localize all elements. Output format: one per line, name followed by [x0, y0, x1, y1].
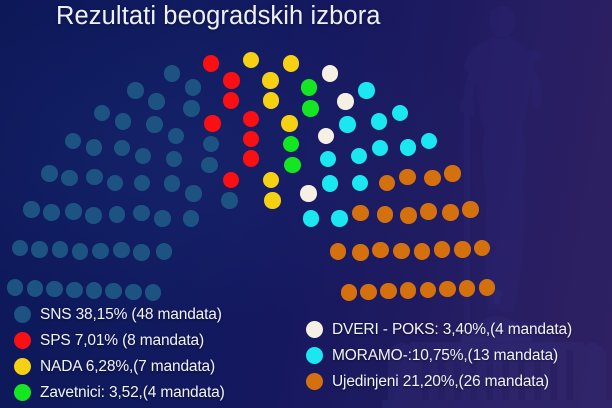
seat-dot-sns [107, 175, 124, 192]
seat-dot-ujedinjeni [360, 284, 377, 301]
seat-dot-sns [41, 165, 58, 182]
legend-item-label: MORAMO-:10,75%,(13 mandata) [332, 347, 558, 365]
seat-dot-ujedinjeni [372, 242, 389, 259]
seat-dot-sns [146, 116, 163, 133]
legend-item-label: SNS 38,15% (48 mandata) [40, 306, 222, 324]
seat-dot-zavetnici [302, 100, 319, 117]
seat-dot-ujedinjeni [454, 241, 471, 258]
seat-dot-moramo [421, 133, 438, 150]
seat-dot-sns [72, 243, 89, 260]
seat-dot-sps [204, 115, 221, 132]
seat-dot-sns [133, 205, 150, 222]
seat-dot-nada [263, 92, 280, 109]
legend-color-swatch [306, 373, 323, 390]
legend-item-zavetnici: Zavetnici: 3,52,(4 mandata) [14, 381, 225, 404]
seat-dot-sns [127, 82, 144, 99]
seat-dot-dveri [300, 185, 317, 202]
seat-dot-sns [86, 139, 103, 156]
legend-item-ujedinjeni: Ujedinjeni 21,20%,(26 mandata) [306, 370, 572, 393]
seat-dot-dveri [337, 93, 354, 110]
seat-dot-sps [243, 150, 260, 167]
seat-dot-sns [125, 284, 142, 301]
seat-dot-sps [223, 92, 240, 109]
seat-dot-ujedinjeni [400, 282, 417, 299]
seat-dot-ujedinjeni [352, 244, 369, 261]
seat-dot-nada [263, 172, 280, 189]
seat-dot-sns [164, 175, 181, 192]
seat-dot-sns [12, 240, 29, 257]
seat-dot-dveri [322, 65, 339, 82]
seat-dot-sps [203, 55, 220, 72]
seat-dot-sns [86, 169, 103, 186]
seat-dot-sns [183, 100, 200, 117]
seat-dot-moramo [339, 116, 356, 133]
seat-dot-sns [135, 148, 152, 165]
seat-dot-moramo [392, 105, 409, 122]
seat-dot-ujedinjeni [459, 280, 476, 297]
seat-dot-moramo [351, 148, 368, 165]
seat-dot-sns [86, 282, 103, 299]
seat-dot-ujedinjeni [479, 279, 496, 296]
legend-item-dveri-poks: DVERI - POKS: 3,40%,(4 mandata) [306, 318, 572, 341]
seat-dot-ujedinjeni [444, 165, 461, 182]
seat-dot-sns [221, 192, 238, 209]
seat-dot-ujedinjeni [420, 282, 437, 299]
infographic-canvas: Rezultati beogradskih izbora SNS 38,15% … [0, 0, 612, 408]
seat-dot-sns [23, 201, 40, 218]
seat-dot-sns [85, 207, 102, 224]
seat-dot-nada [281, 115, 298, 132]
legend-color-swatch [306, 347, 323, 364]
seat-dot-ujedinjeni [439, 281, 456, 298]
seat-dot-ujedinjeni [434, 241, 451, 258]
legend-color-swatch [14, 332, 31, 349]
seat-dot-sns [166, 151, 183, 168]
seat-dot-moramo [331, 210, 348, 227]
seat-dot-sns [113, 242, 130, 259]
seat-dot-ujedinjeni [400, 207, 417, 224]
seat-dot-zavetnici [284, 157, 301, 174]
seat-dot-ujedinjeni [424, 170, 441, 187]
seat-dot-moramo [303, 210, 320, 227]
seat-dot-sns [154, 210, 171, 227]
seat-dot-ujedinjeni [462, 201, 479, 218]
seat-dot-moramo [358, 82, 375, 99]
seat-dot-sns [145, 284, 162, 301]
seat-dot-sns [61, 170, 78, 187]
seat-dot-sns [115, 113, 132, 130]
seat-dot-sps [243, 111, 260, 128]
seat-dot-zavetnici [283, 136, 300, 153]
seat-dot-ujedinjeni [341, 284, 358, 301]
seat-dot-moramo [371, 113, 388, 130]
seat-dot-sns [65, 203, 82, 220]
seat-dot-nada [243, 52, 260, 69]
parliament-seat-chart [0, 38, 500, 300]
seat-dot-sns [156, 243, 173, 260]
seat-dot-sps [223, 172, 240, 189]
legend-color-swatch [14, 384, 31, 401]
legend-color-swatch [14, 306, 31, 323]
legend-item-label: Ujedinjeni 21,20%,(26 mandata) [332, 373, 549, 391]
seat-dot-sns [109, 206, 126, 223]
seat-dot-sns [43, 204, 60, 221]
legend-item-sns: SNS 38,15% (48 mandata) [14, 303, 225, 326]
seat-dot-sns [114, 140, 131, 157]
seat-dot-sns [185, 185, 202, 202]
seat-dot-moramo [352, 175, 369, 192]
seat-dot-nada [283, 55, 300, 72]
seat-dot-sns [185, 79, 202, 96]
legend-item-moramo: MORAMO-:10,75%,(13 mandata) [306, 344, 572, 367]
seat-dot-moramo [372, 140, 389, 157]
seat-dot-moramo [322, 175, 339, 192]
page-title: Rezultati beogradskih izbora [56, 2, 381, 31]
seat-dot-sns [201, 157, 218, 174]
seat-dot-moramo [400, 139, 417, 156]
seat-dot-sns [46, 281, 63, 298]
seat-dot-ujedinjeni [380, 283, 397, 300]
seat-dot-sns [94, 105, 111, 122]
seat-dot-sns [92, 243, 109, 260]
seat-dot-sns [65, 133, 82, 150]
legend-item-label: SPS 7,01% (8 mandata) [40, 332, 204, 350]
seat-dot-sns [164, 65, 181, 82]
seat-dot-sps [223, 72, 240, 89]
seat-dot-ujedinjeni [414, 243, 431, 260]
legend-item-sps: SPS 7,01% (8 mandata) [14, 329, 225, 352]
seat-dot-ujedinjeni [420, 203, 437, 220]
seat-dot-ujedinjeni [474, 240, 491, 257]
seat-dot-sns [134, 175, 151, 192]
legend-color-swatch [306, 321, 323, 338]
seat-dot-sns [7, 279, 24, 296]
seat-dot-sns [31, 241, 48, 258]
seat-dot-nada [262, 72, 279, 89]
legend-left-column: SNS 38,15% (48 mandata)SPS 7,01% (8 mand… [14, 303, 225, 404]
seat-dot-ujedinjeni [379, 175, 396, 192]
seat-dot-ujedinjeni [330, 243, 347, 260]
seat-dot-zavetnici [301, 79, 318, 96]
seat-dot-ujedinjeni [352, 205, 369, 222]
seat-dot-sns [183, 210, 200, 227]
seat-dot-sns [133, 244, 150, 261]
seat-dot-ujedinjeni [393, 243, 410, 260]
seat-dot-sns [27, 280, 44, 297]
seat-dot-sps [243, 131, 260, 148]
seat-dot-nada [264, 192, 281, 209]
seat-dot-ujedinjeni [377, 206, 394, 223]
seat-dot-sns [105, 283, 122, 300]
seat-dot-ujedinjeni [399, 169, 416, 186]
seat-dot-moramo [320, 151, 337, 168]
legend-color-swatch [14, 358, 31, 375]
seat-dot-dveri [318, 128, 335, 145]
seat-dot-sns [52, 241, 69, 258]
legend-item-label: DVERI - POKS: 3,40%,(4 mandata) [332, 321, 572, 339]
legend-right-column: DVERI - POKS: 3,40%,(4 mandata)MORAMO-:1… [306, 318, 572, 393]
seat-dot-sns [66, 282, 83, 299]
seat-dot-sns [168, 128, 185, 145]
legend-item-label: NADA 6,28%,(7 mandata) [40, 358, 215, 376]
legend-item-nada: NADA 6,28%,(7 mandata) [14, 355, 225, 378]
legend-item-label: Zavetnici: 3,52,(4 mandata) [40, 384, 225, 402]
seat-dot-ujedinjeni [442, 204, 459, 221]
seat-dot-sns [203, 136, 220, 153]
seat-dot-sns [148, 93, 165, 110]
